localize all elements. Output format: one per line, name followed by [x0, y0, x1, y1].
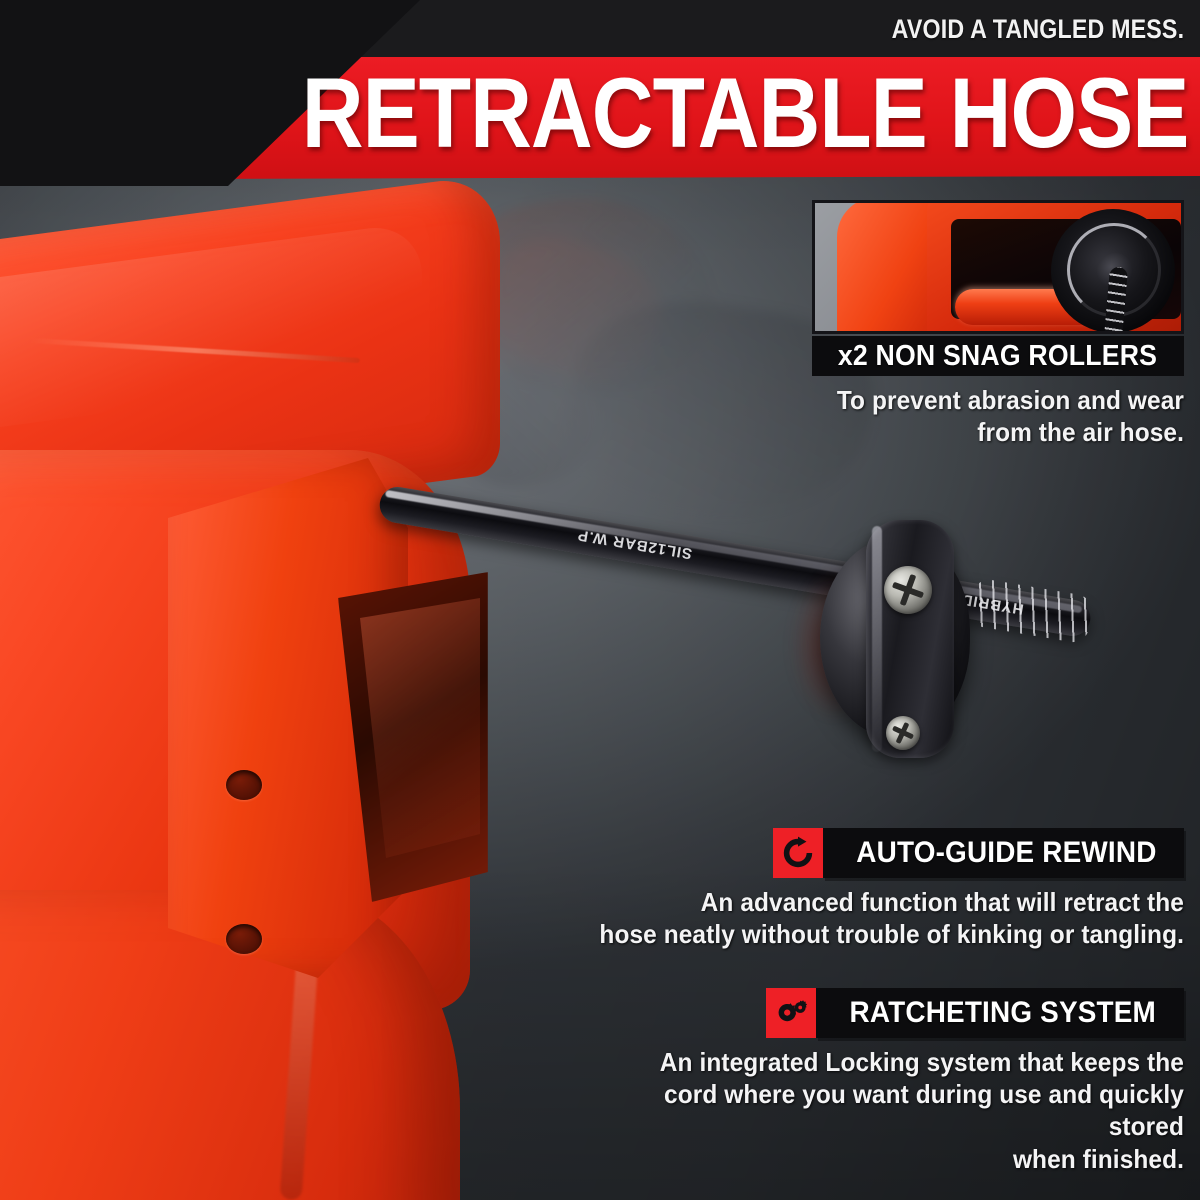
mounting-hole	[226, 770, 262, 800]
page-title: RETRACTABLE HOSE	[301, 64, 1188, 163]
header-banner: AVOID A TANGLED MESS. RETRACTABLE HOSE	[0, 0, 1200, 186]
mounting-hole	[226, 924, 262, 954]
feature-description: An advanced function that will retract t…	[597, 886, 1184, 950]
feature-title: RATCHETING SYSTEM	[850, 996, 1156, 1030]
feature-title: AUTO-GUIDE REWIND	[856, 836, 1156, 870]
product-marketing-image: SIL12BAR W.P HYBRID PO AVOID A TANGLED M…	[0, 0, 1200, 1200]
rewind-arrow-icon	[773, 828, 823, 878]
inset-label-text: x2 NON SNAG ROLLERS	[838, 340, 1157, 373]
inset-label-bar: x2 NON SNAG ROLLERS	[812, 336, 1184, 376]
inset-photo-non-snag-rollers	[812, 200, 1184, 334]
product-photo-hose-reel	[0, 200, 640, 1200]
feature-title-bar: AUTO-GUIDE REWIND	[823, 828, 1184, 878]
feature-title-bar: RATCHETING SYSTEM	[816, 988, 1184, 1038]
feature-description: An integrated Locking system that keeps …	[582, 1046, 1184, 1175]
phillips-screw-icon	[886, 716, 920, 750]
tagline-text: AVOID A TANGLED MESS.	[891, 14, 1184, 45]
phillips-screw-icon	[884, 566, 932, 614]
hose-stop-coupling	[820, 510, 1000, 780]
inset-description: To prevent abrasion and wear from the ai…	[785, 385, 1184, 448]
gears-icon	[766, 988, 816, 1038]
